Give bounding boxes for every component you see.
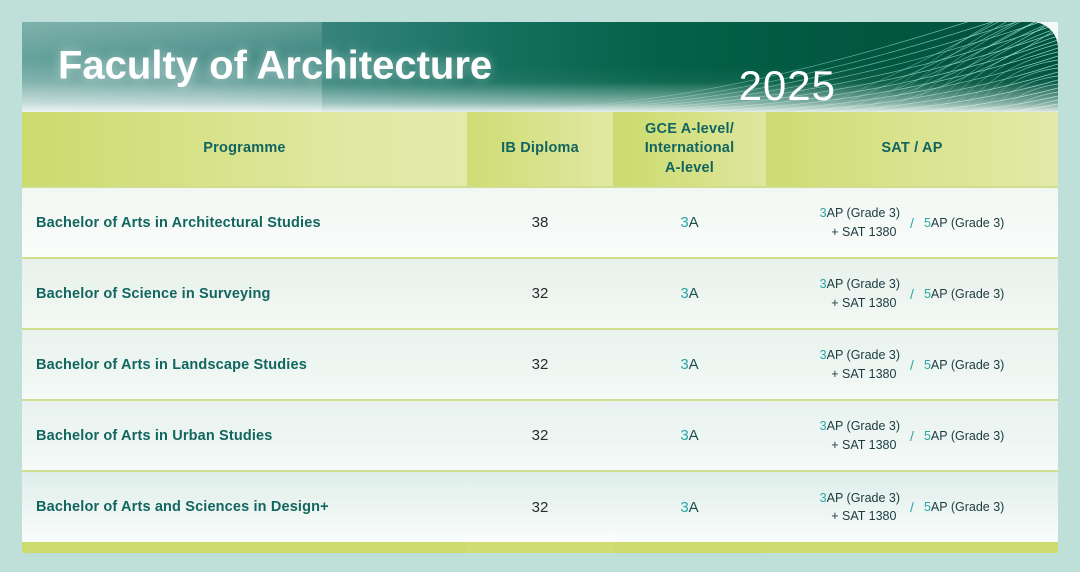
banner-year: 2025 <box>739 62 836 110</box>
gce-accent: 3 <box>680 427 688 444</box>
sat-right-rest: AP (Grade 3) <box>931 500 1004 514</box>
sat-option-one: 3AP (Grade 3) + SAT 1380 <box>820 489 900 525</box>
sat-left-accent: 3 <box>820 419 827 433</box>
footer-segment-sat <box>766 542 1058 553</box>
footer-segment-gce <box>613 542 766 553</box>
sat-left-accent: 3 <box>820 277 827 291</box>
sat-right-rest: AP (Grade 3) <box>931 358 1004 372</box>
sat-right-accent: 5 <box>924 500 931 514</box>
sat-option-two: 5AP (Grade 3) <box>924 287 1004 301</box>
gce-requirement: 3A <box>613 400 766 471</box>
column-header-gce-a-level: GCE A-level/ International A-level <box>613 112 766 187</box>
column-header-sat-ap: SAT / AP <box>766 112 1058 187</box>
gce-header-line-1: GCE A-level/ <box>645 121 734 137</box>
sat-left-line1: AP (Grade 3) <box>827 419 900 433</box>
table-row: Bachelor of Arts in Architectural Studie… <box>22 187 1058 258</box>
programme-name: Bachelor of Arts in Architectural Studie… <box>22 187 467 258</box>
page-root: Faculty of Architecture 2025 Programme I… <box>0 0 1080 572</box>
sat-left-line2: + SAT 1380 <box>820 436 900 454</box>
gce-requirement: 3A <box>613 187 766 258</box>
page-title: Faculty of Architecture <box>58 44 492 89</box>
gce-accent: 3 <box>680 356 688 373</box>
sat-right-accent: 5 <box>924 216 931 230</box>
footer-segment-programme <box>22 542 467 553</box>
sat-ap-requirement: 3AP (Grade 3) + SAT 1380 / 5AP (Grade 3) <box>766 329 1058 400</box>
sat-separator: / <box>910 215 914 231</box>
column-header-ib-diploma: IB Diploma <box>467 112 613 187</box>
sat-ap-requirement: 3AP (Grade 3) + SAT 1380 / 5AP (Grade 3) <box>766 471 1058 542</box>
sat-option-one: 3AP (Grade 3) + SAT 1380 <box>820 346 900 382</box>
table-header: Programme IB Diploma GCE A-level/ Intern… <box>22 112 1058 187</box>
sat-option-two: 5AP (Grade 3) <box>924 500 1004 514</box>
admissions-table: Programme IB Diploma GCE A-level/ Intern… <box>22 112 1058 542</box>
table-row: Bachelor of Science in Surveying 32 3A 3… <box>22 258 1058 329</box>
gce-requirement: 3A <box>613 471 766 542</box>
ib-score: 38 <box>467 187 613 258</box>
gce-rest: A <box>689 214 699 231</box>
sat-left-line1: AP (Grade 3) <box>827 348 900 362</box>
gce-header-line-2: International <box>645 140 735 156</box>
sat-option-one: 3AP (Grade 3) + SAT 1380 <box>820 417 900 453</box>
sat-right-rest: AP (Grade 3) <box>931 429 1004 443</box>
table-body: Bachelor of Arts in Architectural Studie… <box>22 187 1058 542</box>
programme-name: Bachelor of Science in Surveying <box>22 258 467 329</box>
sat-left-line2: + SAT 1380 <box>820 294 900 312</box>
sat-left-line2: + SAT 1380 <box>820 365 900 383</box>
table-row: Bachelor of Arts and Sciences in Design+… <box>22 471 1058 542</box>
gce-rest: A <box>689 499 699 516</box>
ib-score: 32 <box>467 471 613 542</box>
gce-header-line-3: A-level <box>665 160 714 176</box>
gce-accent: 3 <box>680 285 688 302</box>
programme-name: Bachelor of Arts in Urban Studies <box>22 400 467 471</box>
sat-separator: / <box>910 499 914 515</box>
gce-rest: A <box>689 285 699 302</box>
table-row: Bachelor of Arts in Landscape Studies 32… <box>22 329 1058 400</box>
programme-name: Bachelor of Arts and Sciences in Design+ <box>22 471 467 542</box>
column-header-programme: Programme <box>22 112 467 187</box>
gce-requirement: 3A <box>613 258 766 329</box>
faculty-banner: Faculty of Architecture 2025 <box>22 22 1058 112</box>
sat-option-two: 5AP (Grade 3) <box>924 358 1004 372</box>
gce-accent: 3 <box>680 214 688 231</box>
sat-right-accent: 5 <box>924 429 931 443</box>
sat-ap-requirement: 3AP (Grade 3) + SAT 1380 / 5AP (Grade 3) <box>766 187 1058 258</box>
sat-right-accent: 5 <box>924 358 931 372</box>
sat-option-one: 3AP (Grade 3) + SAT 1380 <box>820 275 900 311</box>
gce-requirement: 3A <box>613 329 766 400</box>
gce-accent: 3 <box>680 499 688 516</box>
sat-separator: / <box>910 286 914 302</box>
programme-name: Bachelor of Arts in Landscape Studies <box>22 329 467 400</box>
sat-ap-requirement: 3AP (Grade 3) + SAT 1380 / 5AP (Grade 3) <box>766 400 1058 471</box>
sat-option-one: 3AP (Grade 3) + SAT 1380 <box>820 204 900 240</box>
ib-score: 32 <box>467 329 613 400</box>
sat-option-two: 5AP (Grade 3) <box>924 429 1004 443</box>
faculty-card: Faculty of Architecture 2025 Programme I… <box>22 22 1058 546</box>
sat-right-rest: AP (Grade 3) <box>931 216 1004 230</box>
sat-separator: / <box>910 357 914 373</box>
gce-rest: A <box>689 356 699 373</box>
gce-rest: A <box>689 427 699 444</box>
sat-left-accent: 3 <box>820 491 827 505</box>
sat-left-line1: AP (Grade 3) <box>827 206 900 220</box>
sat-ap-requirement: 3AP (Grade 3) + SAT 1380 / 5AP (Grade 3) <box>766 258 1058 329</box>
ib-score: 32 <box>467 400 613 471</box>
footer-accent-bar <box>22 542 1058 553</box>
sat-left-line2: + SAT 1380 <box>820 507 900 525</box>
sat-left-line2: + SAT 1380 <box>820 223 900 241</box>
footer-segment-ib <box>467 542 613 553</box>
sat-right-rest: AP (Grade 3) <box>931 287 1004 301</box>
sat-separator: / <box>910 428 914 444</box>
sat-left-line1: AP (Grade 3) <box>827 491 900 505</box>
sat-left-accent: 3 <box>820 348 827 362</box>
sat-left-accent: 3 <box>820 206 827 220</box>
sat-option-two: 5AP (Grade 3) <box>924 216 1004 230</box>
table-row: Bachelor of Arts in Urban Studies 32 3A … <box>22 400 1058 471</box>
sat-left-line1: AP (Grade 3) <box>827 277 900 291</box>
ib-score: 32 <box>467 258 613 329</box>
sat-right-accent: 5 <box>924 287 931 301</box>
table-header-row: Programme IB Diploma GCE A-level/ Intern… <box>22 112 1058 187</box>
